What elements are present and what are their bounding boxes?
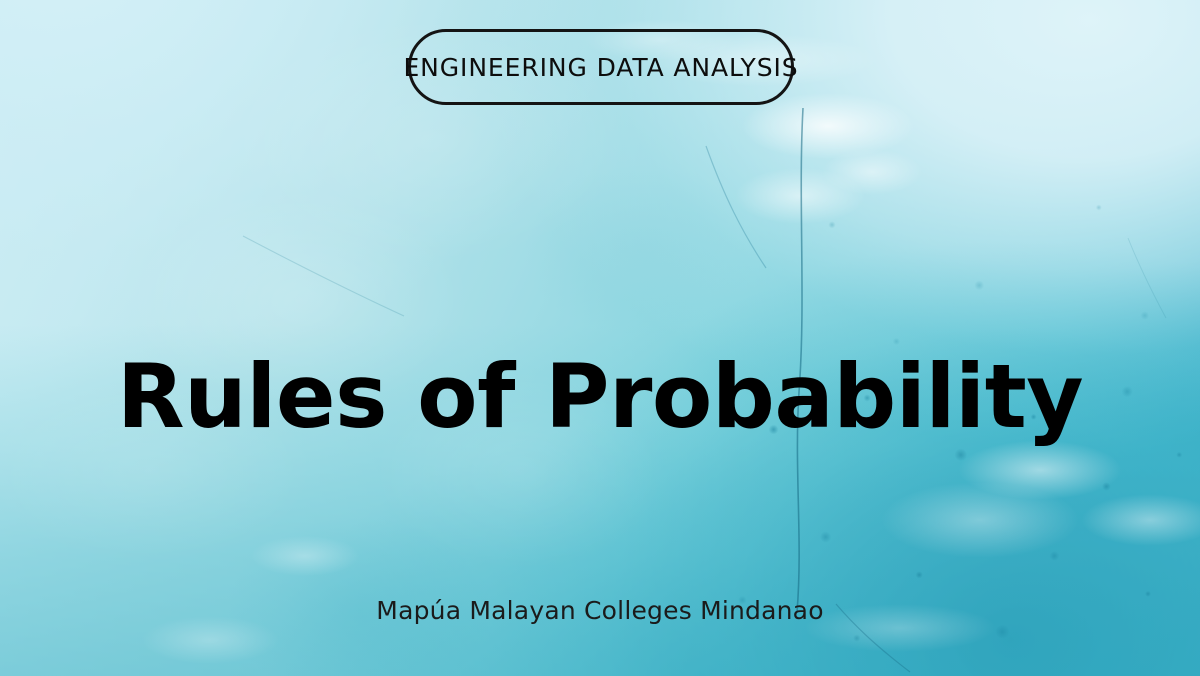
eyebrow-badge-label: ENGINEERING DATA ANALYSIS — [403, 55, 798, 80]
presentation-title-slide: ENGINEERING DATA ANALYSIS Rules of Proba… — [0, 0, 1200, 676]
eyebrow-badge: ENGINEERING DATA ANALYSIS — [408, 29, 794, 105]
slide-content: ENGINEERING DATA ANALYSIS Rules of Proba… — [0, 0, 1200, 676]
page-title: Rules of Probability — [0, 351, 1200, 443]
institution-subtitle: Mapúa Malayan Colleges Mindanao — [0, 596, 1200, 626]
